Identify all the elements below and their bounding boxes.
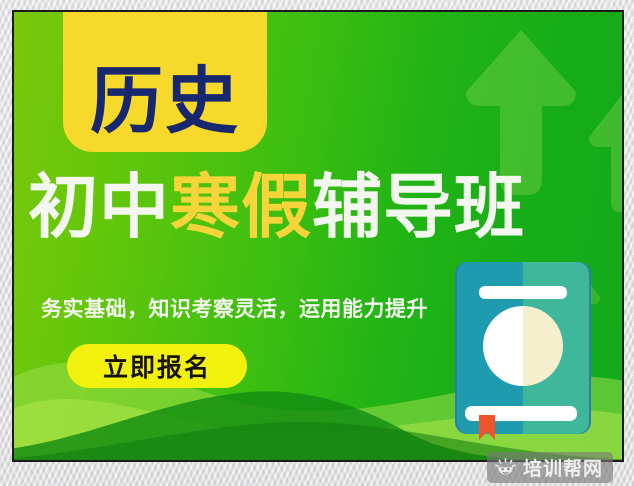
subject-chip: 历史 (63, 10, 267, 152)
headline-part-1: 初中 (28, 166, 170, 248)
sun-face-icon (495, 458, 516, 477)
headline-part-3: 辅导班 (312, 166, 525, 248)
register-now-button[interactable]: 立即报名 (67, 344, 247, 388)
register-now-label: 立即报名 (103, 348, 211, 384)
subtitle: 务实基础，知识考察灵活，运用能力提升 (41, 293, 428, 323)
subject-label: 历史 (90, 65, 240, 138)
watermark-label: 培训帮网 (523, 454, 603, 481)
headline-part-2: 寒假 (170, 166, 312, 248)
promo-banner: 历史 初中寒假辅导班 务实基础，知识考察灵活，运用能力提升 立即报名 (12, 10, 624, 462)
page-background: 历史 初中寒假辅导班 务实基础，知识考察灵活，运用能力提升 立即报名 (0, 0, 634, 486)
headline: 初中寒假辅导班 (28, 172, 612, 242)
watermark: 培训帮网 (487, 452, 613, 483)
book-icon (455, 260, 591, 440)
